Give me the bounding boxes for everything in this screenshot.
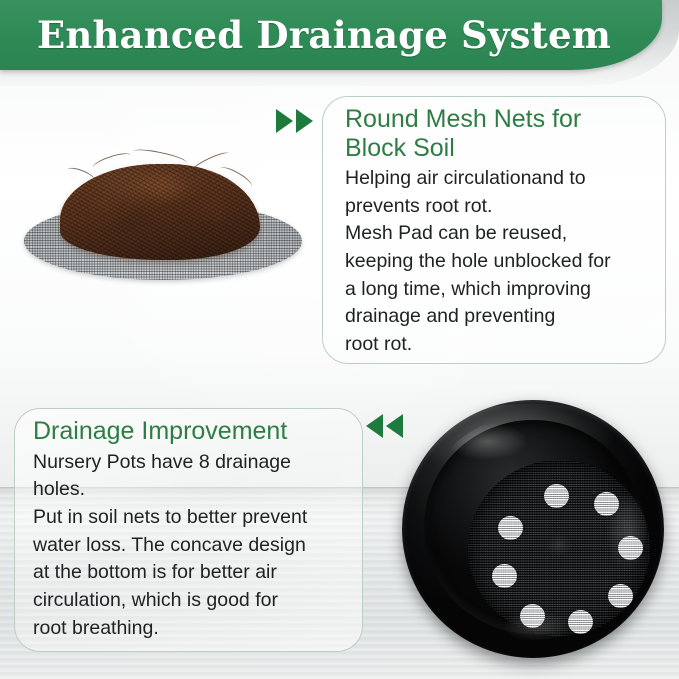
info-card-body: Helping air circulationand to prevents r… (323, 162, 665, 359)
header-banner: Enhanced Drainage System (0, 0, 662, 70)
pot-mesh-disc (468, 460, 650, 636)
triangle-left-icon (386, 414, 403, 438)
pot-center-concave (541, 532, 577, 564)
info-card-drainage-improvement: Drainage Improvement Nursery Pots have 8… (14, 408, 363, 652)
drainage-hole (608, 584, 633, 608)
drainage-hole (520, 604, 545, 628)
mesh-pad-with-soil-photo (12, 150, 312, 310)
drainage-hole (594, 492, 619, 516)
nursery-pot-bottom-photo (398, 398, 670, 670)
arrow-right-marker (276, 109, 313, 133)
triangle-left-icon (366, 414, 383, 438)
page-title: Enhanced Drainage System (37, 17, 625, 54)
info-card-body: Nursery Pots have 8 drainage holes. Put … (15, 446, 362, 643)
arrow-left-marker (366, 414, 403, 438)
drainage-hole (618, 536, 643, 560)
drainage-hole (498, 516, 523, 540)
infographic-page: Enhanced Drainage System Round Mesh Nets… (0, 0, 679, 679)
triangle-right-icon (276, 109, 293, 133)
drainage-hole (568, 610, 593, 634)
drainage-hole (544, 484, 569, 508)
info-card-heading: Round Mesh Nets for Block Soil (323, 97, 665, 162)
info-card-mesh-nets: Round Mesh Nets for Block Soil Helping a… (322, 96, 666, 364)
pot-inner-cavity (424, 420, 642, 634)
triangle-right-icon (296, 109, 313, 133)
drainage-hole (492, 564, 517, 588)
info-card-heading: Drainage Improvement (15, 409, 362, 446)
